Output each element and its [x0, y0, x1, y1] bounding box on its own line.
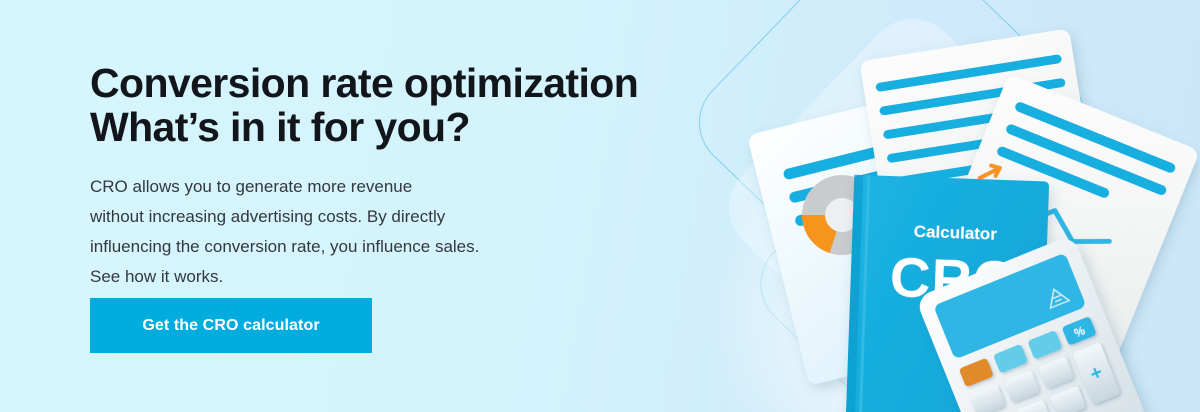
- text-column: Conversion rate optimization What’s in i…: [90, 0, 710, 412]
- illustration-svg: Calculator CRO %: [680, 0, 1200, 412]
- get-cro-calculator-button[interactable]: Get the CRO calculator: [90, 298, 372, 353]
- body-paragraph: CRO allows you to generate more revenue …: [90, 172, 550, 292]
- illustration: Calculator CRO %: [680, 0, 1200, 412]
- book-subtitle: Calculator: [913, 222, 997, 244]
- page-title: Conversion rate optimization What’s in i…: [90, 62, 730, 150]
- cro-promo-banner: Conversion rate optimization What’s in i…: [0, 0, 1200, 412]
